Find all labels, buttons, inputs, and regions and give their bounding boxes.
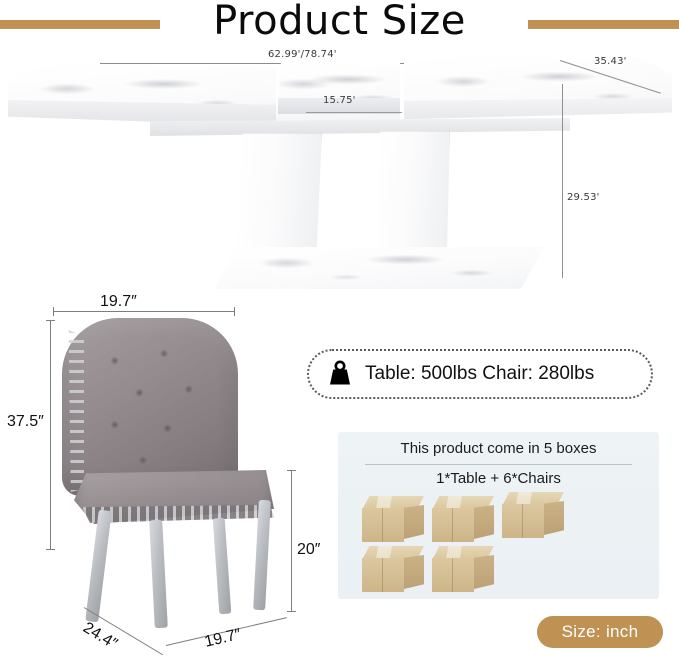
carton-front [432, 508, 474, 542]
carton-seam [382, 508, 383, 542]
table-base-plinth [214, 247, 544, 289]
carton-front [502, 504, 544, 538]
carton-front [362, 508, 404, 542]
carton-side [544, 501, 564, 535]
chair-seat-height-dimension-line [291, 470, 292, 612]
chair-seat-height-tick-bottom [287, 611, 296, 612]
packaging-divider [365, 464, 632, 465]
carton-front [432, 558, 474, 592]
carton-box [502, 492, 564, 538]
carton-seam [382, 558, 383, 592]
carton-side [404, 555, 424, 589]
chair-width-dimension-line [53, 311, 235, 312]
table-height-label: 29.53' [567, 192, 600, 203]
table-width-label: 62.99'/78.74' [268, 49, 337, 60]
table-height-dimension-line [562, 84, 563, 278]
chair-width-tick-left [53, 307, 54, 316]
chair-backrest [62, 318, 238, 496]
carton-seam [452, 508, 453, 542]
carton-box [362, 546, 424, 592]
chair-back-width-label: 19.7″ [100, 293, 137, 311]
carton-box [432, 546, 494, 592]
chair-height-tick-top [46, 320, 55, 321]
carton-box [362, 496, 424, 542]
page-header: Product Size [0, 0, 679, 48]
size-unit-badge: Size: inch [537, 616, 663, 648]
carton-front [362, 558, 404, 592]
header-rule-right [528, 20, 679, 29]
packaging-subtitle: 1*Table + 6*Chairs [338, 470, 659, 487]
table-leaf-dimension-line [306, 112, 402, 113]
size-unit-label: Size: inch [562, 622, 639, 642]
chair-width-tick-right [234, 307, 235, 316]
weight-icon [325, 359, 355, 389]
chair-height-tick-bottom [46, 549, 55, 550]
packaging-title: This product come in 5 boxes [338, 440, 659, 457]
carton-side [474, 505, 494, 539]
carton-seam [522, 504, 523, 538]
carton-seam [452, 558, 453, 592]
carton-side [404, 505, 424, 539]
weight-capacity-text: Table: 500lbs Chair: 280lbs [365, 363, 594, 385]
chair-height-dimension-line [50, 320, 51, 550]
table-depth-label: 35.43' [594, 56, 627, 67]
chair-total-height-label: 37.5″ [7, 413, 44, 431]
weight-capacity-callout: Table: 500lbs Chair: 280lbs [307, 349, 653, 399]
chair-seat-height-label: 20″ [297, 541, 320, 559]
table-leaf-label: 15.75' [323, 95, 356, 106]
carton-box [432, 496, 494, 542]
carton-side [474, 555, 494, 589]
chair-seat-height-tick-top [287, 470, 296, 471]
